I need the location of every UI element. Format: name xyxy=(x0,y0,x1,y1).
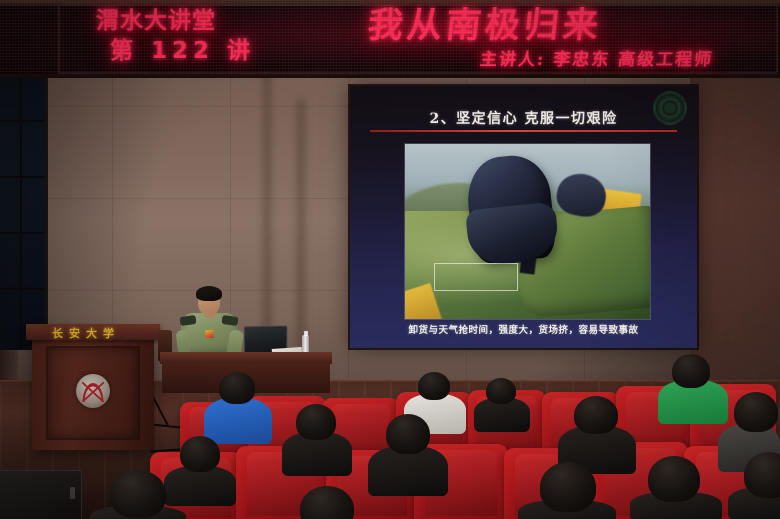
slide-caption: 卸货与天气抢时间，强度大，货场挤，容易导致事故 xyxy=(350,322,697,336)
photo-bag-label xyxy=(434,263,517,291)
attendee-center-front xyxy=(386,414,430,454)
slide-title-underline xyxy=(370,130,677,132)
attendee-mid-right-low xyxy=(648,456,700,502)
attendee-front-center-low xyxy=(540,462,596,512)
slide-photo xyxy=(405,144,650,319)
led-banner: 渭水大讲堂 第 122 讲 我从南极归来 主讲人: 李忠东 高级工程师 xyxy=(0,0,780,78)
wall-stain xyxy=(262,60,272,360)
wall-stain xyxy=(296,100,306,350)
attendee-right-far xyxy=(734,392,778,432)
presenter-badge xyxy=(205,330,214,338)
attendee-blue-jacket xyxy=(219,372,255,404)
attendee-gray-hair xyxy=(418,372,450,400)
attendee-right-mid xyxy=(574,396,618,434)
banner-series-name: 渭水大讲堂 xyxy=(96,10,216,33)
slide-title: 2、坚定信心 克服一切艰险 xyxy=(350,108,697,128)
banner-main-title: 我从南极归来 xyxy=(366,8,604,43)
attendee-far-right-edge xyxy=(744,452,780,498)
presenter-hair xyxy=(196,286,222,301)
university-crest-emblem xyxy=(76,374,110,408)
attendee-blue-jacket-shoulders xyxy=(204,398,272,444)
lecture-hall-photo: 渭水大讲堂 第 122 讲 我从南极归来 主讲人: 李忠东 高级工程师 2、坚定… xyxy=(0,0,780,519)
podium xyxy=(32,332,154,450)
right-wall-dark xyxy=(690,70,780,400)
attendee-back-row-far xyxy=(486,378,516,404)
attendee-green-shirt xyxy=(672,354,710,388)
attendee-left-aisle xyxy=(180,436,220,472)
attendee-front-left-low xyxy=(110,470,166,518)
projection-screen: 2、坚定信心 克服一切艰险 卸货与天气抢时间，强度大，货场挤，容易导致事故 xyxy=(350,86,697,348)
banner-speaker-line: 主讲人: 李忠东 高级工程师 xyxy=(479,52,714,69)
attendee-dark-back-left xyxy=(296,404,336,440)
attendee-left-aisle-shoulders xyxy=(164,466,236,506)
stage-floor-monitor-speaker xyxy=(0,470,82,519)
podium-label: 长安大学 xyxy=(52,325,142,341)
banner-session-number: 第 122 讲 xyxy=(110,40,255,63)
